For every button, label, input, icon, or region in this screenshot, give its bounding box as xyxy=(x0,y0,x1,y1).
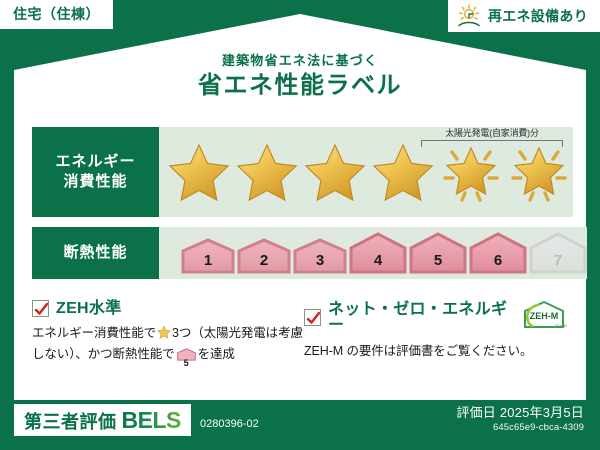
insulation-level-7: 7 xyxy=(529,232,587,274)
energy-performance-row: エネルギー 消費性能 xyxy=(32,127,568,217)
zeh-standard-header: ZEH水準 xyxy=(32,300,304,317)
zeh-m-logo: ZEH-M ZEH-M xyxy=(520,300,572,335)
inline-star-icon xyxy=(157,325,171,345)
star-icon xyxy=(301,132,369,212)
star-icon xyxy=(369,132,437,212)
evaluation-date: 評価日 2025年3月5日 xyxy=(456,405,584,421)
zeh-section: ZEH水準 エネルギー消費性能で3つ（太陽光発電は考慮しない）、かつ断熱性能で5… xyxy=(32,300,572,369)
insulation-performance-row: 断熱性能 1 xyxy=(32,227,568,279)
zeh-desc-part2: 3つ（太陽光発電 xyxy=(172,326,266,340)
title-block: 建築物省エネ法に基づく 省エネ性能ラベル xyxy=(0,54,600,98)
zeh-standard-description: エネルギー消費性能で3つ（太陽光発電は考慮しない）、かつ断熱性能で5を達成 xyxy=(32,324,304,369)
insulation-level-3: 3 xyxy=(293,238,347,274)
insulation-key-label: 断熱性能 xyxy=(63,243,127,263)
insulation-level-number: 5 xyxy=(409,253,467,268)
star-rating xyxy=(165,132,573,212)
insulation-level-number: 7 xyxy=(529,253,587,268)
zeh-desc-part4: を達成 xyxy=(198,347,235,361)
insulation-level-1: 1 xyxy=(181,238,235,274)
bels-logo-text: BELS xyxy=(122,409,181,432)
insulation-level-number: 2 xyxy=(237,253,291,268)
check-icon xyxy=(306,311,321,326)
bels-japanese-label: 第三者評価 xyxy=(24,413,117,431)
zeh-standard-block: ZEH水準 エネルギー消費性能で3つ（太陽光発電は考慮しない）、かつ断熱性能で5… xyxy=(32,300,304,369)
insulation-level-scale: 1 2 3 xyxy=(181,232,587,274)
sun-renewable-icon xyxy=(456,4,482,28)
insulation-level-number: 6 xyxy=(469,253,527,268)
svg-text:ZEH-M: ZEH-M xyxy=(554,323,567,328)
energy-key-line1: エネルギー xyxy=(55,152,135,172)
star-icon xyxy=(165,132,233,212)
bels-certification-mark: 第三者評価 BELS xyxy=(14,404,191,436)
zeh-standard-title: ZEH水準 xyxy=(56,301,122,317)
star-icon-solar xyxy=(437,132,505,212)
building-type-tag: 住宅（住棟） xyxy=(0,0,113,29)
performance-table: エネルギー 消費性能 xyxy=(32,127,568,279)
renewable-badge-label: 再エネ設備あり xyxy=(488,9,588,23)
evaluation-uuid: 645c65e9-cbca-4309 xyxy=(456,421,584,434)
certificate-number: 0280396-02 xyxy=(200,419,259,430)
zeh-desc-part1: エネルギー消費性能で xyxy=(32,326,156,340)
inline-house-icon: 5 xyxy=(177,347,196,368)
energy-performance-label-cell: エネルギー 消費性能 xyxy=(32,127,159,217)
insulation-level-2: 2 xyxy=(237,238,291,274)
insulation-level-number: 4 xyxy=(349,253,407,268)
insulation-level-6: 6 xyxy=(469,232,527,274)
insulation-level-number: 3 xyxy=(293,253,347,268)
net-zero-energy-block: ネット・ゼロ・エネルギー ZEH-M ZEH-M ZEH-M の要件は評価書をご… xyxy=(304,300,572,369)
insulation-performance-label-cell: 断熱性能 xyxy=(32,227,159,279)
svg-text:ZEH-M: ZEH-M xyxy=(530,311,559,321)
zeh-standard-checkbox[interactable] xyxy=(32,300,49,317)
insulation-performance-value-cell: 1 2 3 xyxy=(159,227,587,279)
insulation-level-number: 1 xyxy=(181,253,235,268)
star-icon-solar xyxy=(505,132,573,212)
page-title: 省エネ性能ラベル xyxy=(0,74,600,98)
footer-evaluation-info: 評価日 2025年3月5日 645c65e9-cbca-4309 xyxy=(456,405,584,434)
renewable-equipment-badge: 再エネ設備あり xyxy=(448,0,600,32)
star-icon xyxy=(233,132,301,212)
insulation-level-4: 4 xyxy=(349,232,407,274)
net-zero-energy-header: ネット・ゼロ・エネルギー ZEH-M ZEH-M xyxy=(304,300,572,335)
energy-performance-value-cell: 太陽光発電(自家消費)分 xyxy=(159,127,573,217)
check-icon xyxy=(34,302,49,317)
net-zero-energy-description: ZEH-M の要件は評価書をご覧ください。 xyxy=(304,342,572,361)
energy-key-line2: 消費性能 xyxy=(63,172,127,192)
inline-house-number: 5 xyxy=(177,359,196,368)
net-zero-energy-checkbox[interactable] xyxy=(304,309,321,326)
net-zero-energy-title: ネット・ゼロ・エネルギー xyxy=(328,302,511,334)
title-subtitle: 建築物省エネ法に基づく xyxy=(0,54,600,67)
energy-performance-label: 住宅（住棟） 再エネ設備あり 建築物省エネ法に基づく xyxy=(0,0,600,450)
insulation-level-5: 5 xyxy=(409,232,467,274)
